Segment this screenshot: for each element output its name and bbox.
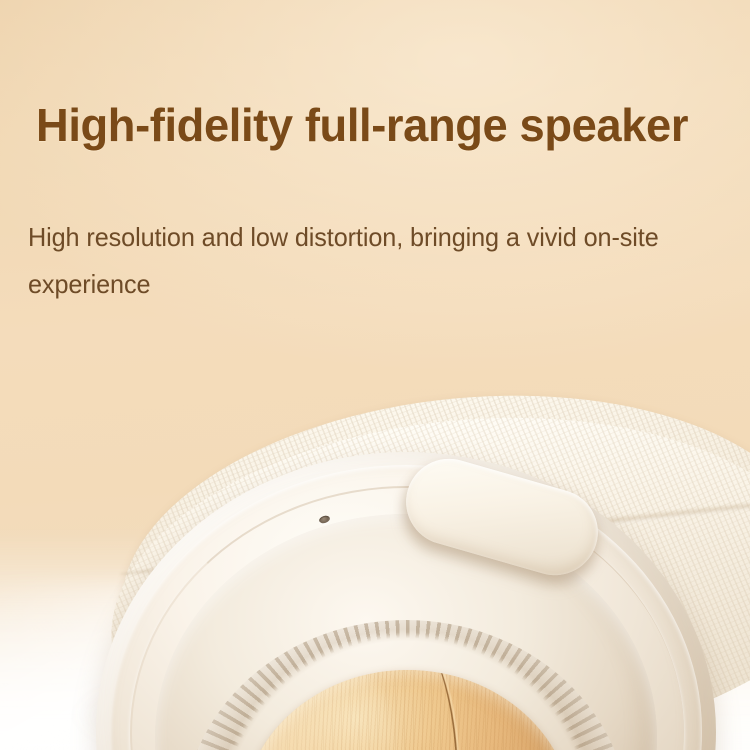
- headline: High-fidelity full-range speaker: [36, 96, 688, 154]
- gold-driver-disc: [242, 670, 574, 750]
- marketing-banner: High-fidelity full-range speaker High re…: [0, 0, 750, 750]
- subtitle: High resolution and low distortion, brin…: [28, 214, 697, 308]
